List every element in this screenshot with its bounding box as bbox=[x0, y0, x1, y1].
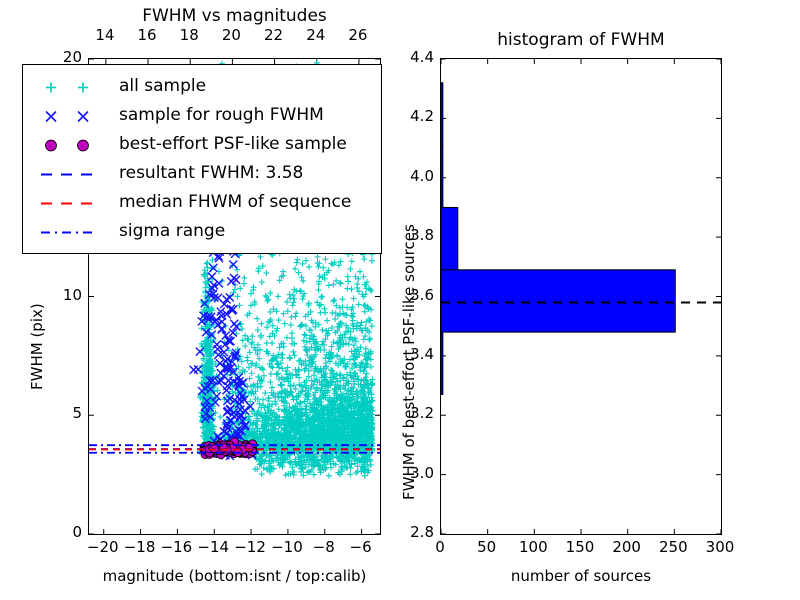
legend-marker-dashdot-icon bbox=[27, 218, 119, 247]
legend-label: all sample bbox=[119, 76, 206, 96]
right-yaxis-label: FWHM of best-effort PSF-like sources bbox=[400, 224, 418, 500]
tick-label-x: 250 bbox=[651, 538, 695, 556]
tick-label-bottom: −10 bbox=[267, 538, 307, 556]
legend-marker-plus-icon bbox=[27, 73, 119, 102]
tick-label-bottom: −6 bbox=[341, 538, 381, 556]
left-xaxis-label: magnitude (bottom:isnt / top:calib) bbox=[88, 567, 381, 585]
legend-item: best-effort PSF-like sample bbox=[23, 131, 381, 160]
tick-label-top: 16 bbox=[131, 26, 163, 44]
tick-label-y: 0 bbox=[42, 523, 82, 541]
tick-label-y: 4.0 bbox=[392, 167, 434, 185]
tick-label-bottom: −18 bbox=[120, 538, 160, 556]
legend: all samplesample for rough FWHMbest-effo… bbox=[22, 64, 382, 254]
histogram-canvas bbox=[441, 59, 721, 534]
tick-label-bottom: −12 bbox=[230, 538, 270, 556]
tick-label-bottom: −14 bbox=[193, 538, 233, 556]
histogram-bars bbox=[441, 83, 675, 395]
tick-label-y: 2.8 bbox=[392, 523, 434, 541]
histogram-bar bbox=[441, 145, 443, 207]
legend-marker-cross-icon bbox=[27, 102, 119, 131]
histogram-bar bbox=[441, 270, 675, 332]
left-yaxis-label: FWHM (pix) bbox=[28, 303, 46, 390]
tick-label-top: 14 bbox=[89, 26, 121, 44]
legend-item: resultant FWHM: 3.58 bbox=[23, 160, 381, 189]
right-xaxis-label: number of sources bbox=[440, 567, 722, 585]
tick-label-bottom: −8 bbox=[304, 538, 344, 556]
tick-label-top: 22 bbox=[258, 26, 290, 44]
left-panel-title: FWHM vs magnitudes bbox=[88, 6, 381, 26]
tick-label-bottom: −16 bbox=[156, 538, 196, 556]
histogram-axes bbox=[440, 58, 722, 535]
tick-label-bottom: −20 bbox=[83, 538, 123, 556]
legend-label: best-effort PSF-like sample bbox=[119, 134, 347, 154]
tick-label-y: 5 bbox=[42, 404, 82, 422]
legend-item: all sample bbox=[23, 73, 381, 102]
tick-label-y: 4.4 bbox=[392, 48, 434, 66]
legend-label: median FHWM of sequence bbox=[119, 192, 351, 212]
tick-label-y: 4.2 bbox=[392, 107, 434, 125]
tick-label-y: 10 bbox=[42, 286, 82, 304]
legend-label: sigma range bbox=[119, 221, 225, 241]
tick-label-x: 200 bbox=[605, 538, 649, 556]
legend-item: sigma range bbox=[23, 218, 381, 247]
legend-item: median FHWM of sequence bbox=[23, 189, 381, 218]
legend-marker-dashed-icon bbox=[27, 189, 119, 218]
legend-marker-dashed-icon bbox=[27, 160, 119, 189]
tick-label-top: 26 bbox=[342, 26, 374, 44]
tick-label-top: 18 bbox=[173, 26, 205, 44]
legend-item: sample for rough FWHM bbox=[23, 102, 381, 131]
histogram-bar bbox=[441, 83, 443, 145]
tick-label-top: 20 bbox=[215, 26, 247, 44]
tick-label-x: 50 bbox=[465, 538, 509, 556]
legend-label: resultant FWHM: 3.58 bbox=[119, 163, 303, 183]
right-panel-title: histogram of FWHM bbox=[440, 30, 722, 50]
tick-label-x: 150 bbox=[558, 538, 602, 556]
tick-label-x: 300 bbox=[698, 538, 742, 556]
tick-label-top: 24 bbox=[300, 26, 332, 44]
histogram-bar bbox=[441, 332, 443, 394]
legend-marker-dot-icon bbox=[27, 131, 119, 160]
tick-label-x: 100 bbox=[511, 538, 555, 556]
legend-label: sample for rough FWHM bbox=[119, 105, 324, 125]
figure-canvas: FWHM vs magnitudes 14161820222426 −20−18… bbox=[0, 0, 800, 600]
histogram-bar bbox=[441, 207, 458, 269]
